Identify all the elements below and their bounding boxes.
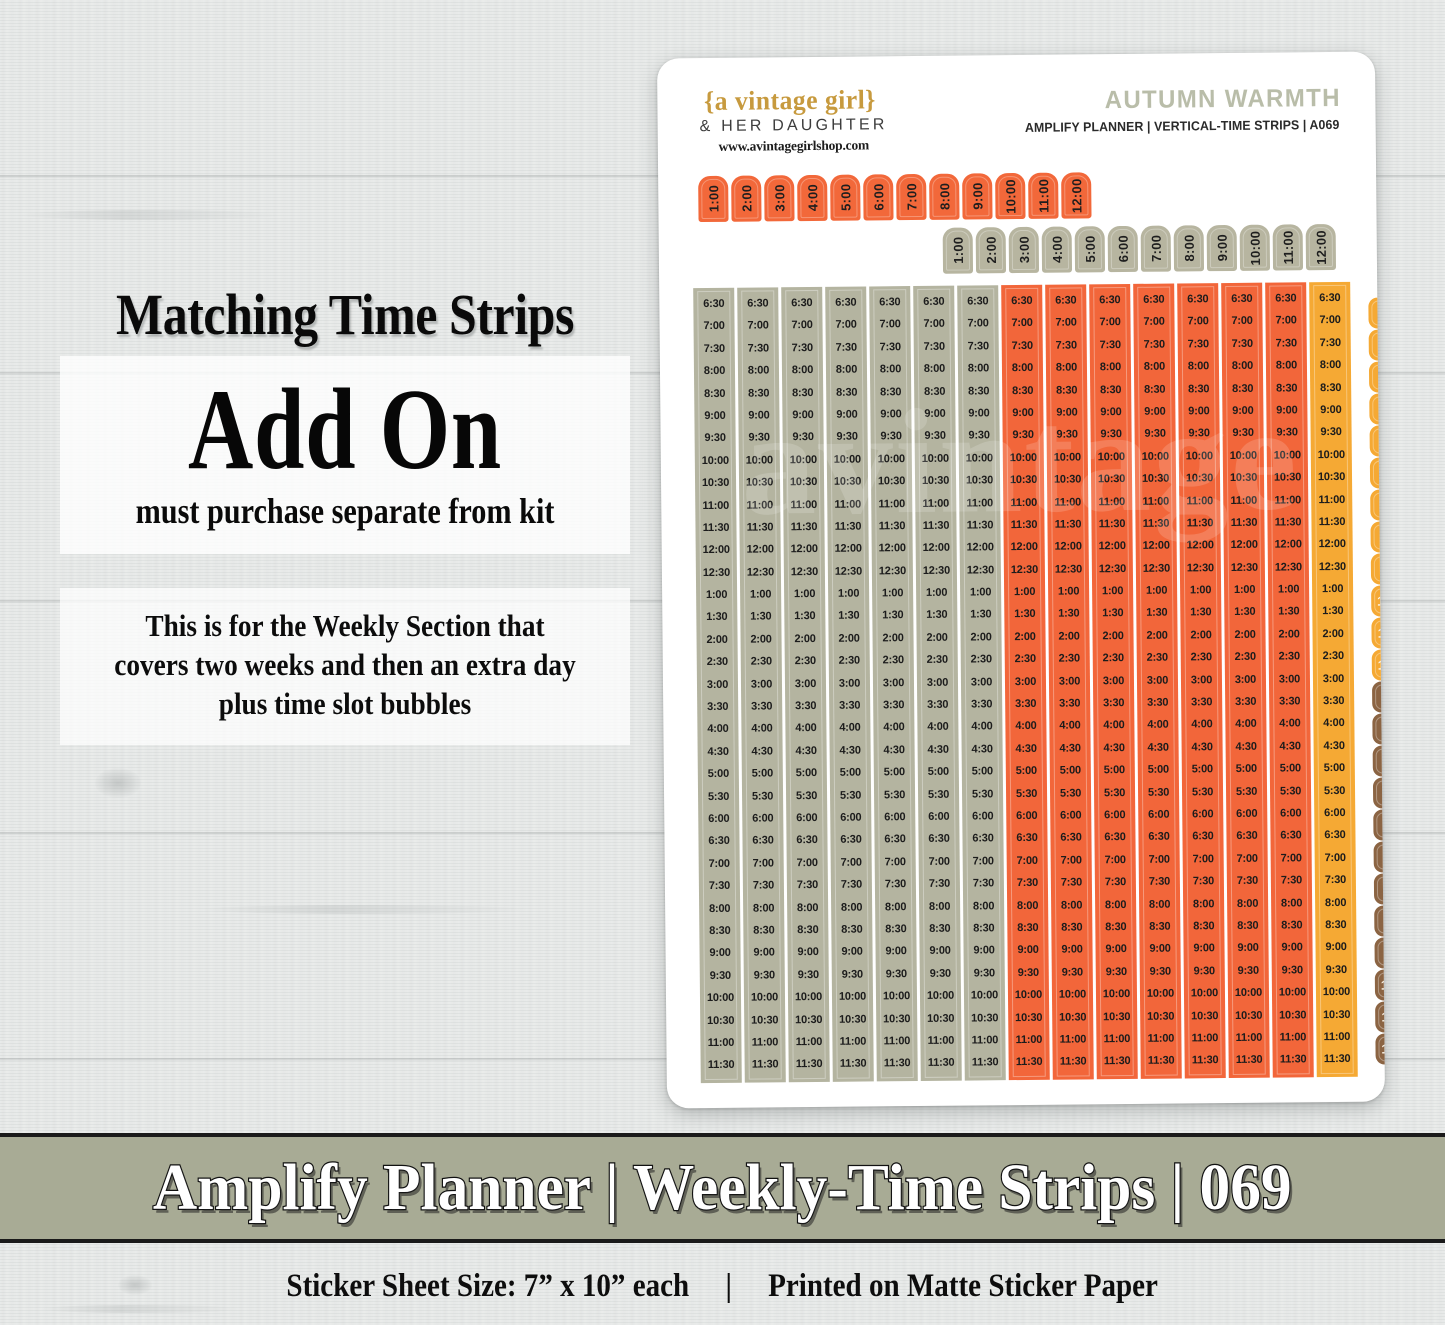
time-strip-cell: 11:30 [1192, 1049, 1219, 1072]
time-strip-cell: 9:30 [710, 965, 731, 988]
time-strip-cell: 10:00 [1186, 445, 1213, 468]
time-tab[interactable]: 7:00 [896, 174, 926, 220]
time-strip-cell: 4:00 [751, 718, 772, 741]
time-strip-cell: 3:30 [751, 695, 772, 718]
time-tab[interactable]: 12:00 [1061, 172, 1091, 218]
time-strip-cell: 6:30 [1148, 826, 1169, 849]
time-strip-column[interactable]: 6:307:007:308:008:309:009:3010:0010:3011… [1133, 284, 1182, 1079]
time-strip-cell: 11:00 [1230, 489, 1257, 512]
time-strip-cell: 4:30 [1015, 738, 1036, 761]
time-strip-cell: 11:00 [1104, 1028, 1131, 1051]
time-strip-cell: 9:00 [885, 940, 906, 963]
time-strip-cell: 9:00 [1056, 401, 1077, 424]
time-strip-cell: 10:00 [1274, 444, 1301, 467]
time-strip-cell: 5:30 [1104, 782, 1125, 805]
time-strip-cell: 11:30 [1231, 512, 1258, 535]
time-strip-cell: 10:00 [795, 986, 822, 1009]
time-strip-cell: 5:30 [1324, 779, 1345, 802]
time-strip-cell: 6:30 [1011, 290, 1032, 313]
time-strip-cell: 6:30 [708, 830, 729, 853]
time-tab[interactable]: 9:00 [962, 173, 992, 219]
time-strip-cell: 6:00 [840, 807, 861, 830]
time-strip-cell: 12:00 [1186, 534, 1213, 557]
time-strip-cell: 10:30 [1142, 468, 1169, 491]
time-strip-cell: 6:30 [1187, 288, 1208, 311]
time-strip-cell: 8:30 [1188, 378, 1209, 401]
time-strip-cell: 9:30 [1150, 960, 1171, 983]
time-strip-cell: 9:00 [709, 942, 730, 965]
time-strip-cell: 3:00 [839, 672, 860, 695]
time-strip-cell: 2:30 [1015, 648, 1036, 671]
time-strip-cell: 8:30 [1100, 379, 1121, 402]
time-strip-cell: 9:00 [1320, 399, 1341, 422]
time-strip-cell: 2:00 [794, 628, 815, 651]
time-strip-cell: 12:30 [967, 559, 994, 582]
time-tab-label: 11:00 [1036, 179, 1051, 213]
time-strip-cell: 7:30 [1061, 872, 1082, 895]
time-strip-cell: 1:30 [1058, 603, 1079, 626]
time-strip-cell: 8:30 [885, 918, 906, 941]
time-strip-cell: 7:30 [924, 336, 945, 359]
time-strip-cell: 7:00 [1231, 310, 1252, 333]
time-strip-cell: 9:00 [841, 941, 862, 964]
time-strip-cell: 3:30 [1147, 692, 1168, 715]
time-strip-cell: 2:30 [1279, 646, 1300, 669]
time-strip-cell: 9:00 [1012, 402, 1033, 425]
time-strip-cell: 7:30 [1017, 872, 1038, 895]
time-strip-cell: 6:00 [796, 807, 817, 830]
time-tab-label: 10:00 [1247, 230, 1262, 265]
time-strip-cell: 8:00 [880, 358, 901, 381]
time-strip-cell: 7:00 [747, 315, 768, 338]
time-strip-cell: 11:30 [1280, 1049, 1307, 1072]
time-strip-cell: 7:00 [1060, 849, 1081, 872]
time-strip-cell: 3:30 [1279, 690, 1300, 713]
time-strip-column[interactable]: 6:307:007:308:008:309:009:3010:0010:3011… [781, 287, 830, 1082]
time-strip-cell: 1:30 [794, 605, 815, 628]
time-strip-cell: 8:00 [1012, 357, 1033, 380]
time-strip-cell: 11:30 [1236, 1049, 1263, 1072]
time-strip-cell: 10:30 [1279, 1004, 1306, 1027]
time-strip-cell: 8:30 [792, 382, 813, 405]
time-strip-cell: 4:30 [1323, 735, 1344, 758]
time-strip-cell: 9:00 [973, 940, 994, 963]
time-strip-cell: 1:30 [1234, 601, 1255, 624]
time-strip-cell: 9:30 [1238, 959, 1259, 982]
time-strip-cell: 11:00 [1054, 491, 1081, 514]
time-strip-cell: 10:30 [922, 470, 949, 493]
time-strip-column[interactable]: 6:307:007:308:008:309:009:3010:0010:3011… [1177, 283, 1226, 1078]
time-strip-cell: 10:00 [1142, 445, 1169, 468]
time-tab-label: 10:00 [1003, 179, 1018, 214]
time-strip-cell: 6:00 [1192, 803, 1213, 826]
time-strip-cell: 8:30 [753, 919, 774, 942]
time-strip-cell: 7:00 [840, 851, 861, 874]
time-strip-cell: 2:30 [1059, 648, 1080, 671]
time-strip-column[interactable]: 6:307:007:308:008:309:009:3010:0010:3011… [957, 285, 1006, 1080]
time-strip-cell: 11:00 [702, 494, 729, 517]
time-strip-cell: 12:30 [1231, 556, 1258, 579]
time-strip-cell: 12:00 [791, 538, 818, 561]
time-strip-cell: 7:00 [1104, 849, 1125, 872]
time-strip-cell: 4:30 [1103, 737, 1124, 760]
time-strip-cell: 8:00 [929, 895, 950, 918]
time-strip-cell: 10:00 [1279, 981, 1306, 1004]
time-strip-cell: 5:30 [1236, 780, 1257, 803]
time-tab[interactable]: 8:00 [929, 174, 959, 220]
time-strip-cell: 12:00 [1142, 535, 1169, 558]
time-strip-cell: 1:30 [1102, 602, 1123, 625]
time-strip-cell: 10:00 [883, 985, 910, 1008]
time-tab-label: 3:00 [772, 185, 787, 212]
time-tab-label: 12:00 [1069, 178, 1084, 213]
time-strip-cell: 8:30 [1325, 914, 1346, 937]
time-strip-cell: 9:30 [924, 425, 945, 448]
time-tab-label: 7:00 [1148, 235, 1163, 262]
time-strip-cell: 5:30 [840, 784, 861, 807]
time-strip-cell: 8:30 [1056, 379, 1077, 402]
time-strip-cell: 12:30 [747, 561, 774, 584]
panel-headline: Matching Time Strips [100, 286, 590, 344]
time-strip-cell: 9:30 [1100, 423, 1121, 446]
time-strip-cell: 9:00 [880, 403, 901, 426]
time-strip-cell: 10:00 [751, 986, 778, 1009]
time-bubble[interactable]: 9:00 [1374, 937, 1385, 968]
time-strip-cell: 4:30 [1191, 736, 1212, 759]
time-tab[interactable]: 10:00 [995, 173, 1025, 219]
time-strip-cell: 2:30 [839, 650, 860, 673]
product-banner: Amplify Planner | Weekly-Time Strips | 0… [0, 1133, 1445, 1243]
time-strip-cell: 11:30 [1319, 511, 1346, 534]
time-strip-column[interactable]: 6:307:007:308:008:309:009:3010:0010:3011… [913, 286, 962, 1081]
time-tab[interactable]: 1:00 [943, 227, 973, 273]
time-strip-cell: 11:30 [1143, 512, 1170, 535]
time-bubble[interactable]: 10:00 [1375, 969, 1385, 1000]
time-strip-cell: 2:30 [795, 650, 816, 673]
time-strip-cell: 3:00 [1235, 668, 1256, 691]
time-strip-cell: 8:00 [1188, 355, 1209, 378]
time-strip-cell: 8:00 [1017, 894, 1038, 917]
time-strip-cell: 12:30 [791, 561, 818, 584]
time-strip-cell: 10:30 [927, 1007, 954, 1030]
time-strip-cell: 12:30 [1319, 556, 1346, 579]
time-strip-cell: 5:30 [1148, 781, 1169, 804]
time-strip-cell: 7:00 [752, 852, 773, 875]
brand-logo: {a vintage girl} & HER DAUGHTER www.avin… [699, 84, 888, 155]
time-strip-cell: 8:00 [1061, 894, 1082, 917]
sheet-meta: AMPLIFY PLANNER | VERTICAL-TIME STRIPS |… [1025, 117, 1340, 135]
time-strip-cell: 8:30 [968, 380, 989, 403]
time-tab[interactable]: 6:00 [1108, 226, 1138, 272]
time-tab[interactable]: 8:00 [1174, 225, 1204, 271]
time-strip-cell: 10:00 [1323, 981, 1350, 1004]
time-strip-cell: 8:30 [1149, 916, 1170, 939]
time-strip-cell: 6:30 [967, 290, 988, 313]
time-strip-cell: 10:30 [1230, 467, 1257, 490]
time-strip-cell: 10:00 [1098, 446, 1125, 469]
time-tab-label: 2:00 [739, 185, 754, 212]
time-strip-cell: 9:00 [748, 404, 769, 427]
time-strip-columns: 6:307:007:308:008:309:009:3010:0010:3011… [693, 282, 1358, 1083]
time-strip-cell: 10:00 [707, 987, 734, 1010]
time-strip-cell: 7:30 [792, 337, 813, 360]
time-tab-label: 12:00 [1313, 230, 1328, 265]
time-strip-column[interactable]: 6:307:007:308:008:309:009:3010:0010:3011… [693, 288, 742, 1083]
time-strip-cell: 6:30 [1104, 826, 1125, 849]
time-strip-cell: 7:30 [973, 872, 994, 895]
time-strip-cell: 5:00 [796, 762, 817, 785]
time-strip-cell: 5:00 [752, 763, 773, 786]
sticker-sheet-wrapper: {a vintage girl} & HER DAUGHTER www.avin… [657, 52, 1385, 1109]
time-strip-cell: 9:00 [1100, 401, 1121, 424]
time-strip-cell: 11:30 [1324, 1048, 1351, 1071]
time-strip-cell: 9:30 [1188, 423, 1209, 446]
time-strip-cell: 7:00 [884, 851, 905, 874]
time-strip-column[interactable]: 6:307:007:308:008:309:009:3010:0010:3011… [825, 286, 874, 1081]
sheet-header: {a vintage girl} & HER DAUGHTER www.avin… [683, 80, 1352, 160]
time-strip-cell: 9:00 [1144, 401, 1165, 424]
time-strip-cell: 4:00 [1191, 714, 1212, 737]
time-tab[interactable]: 11:00 [1028, 173, 1058, 219]
time-strip-cell: 3:30 [1059, 692, 1080, 715]
time-strip-cell: 6:00 [928, 806, 949, 829]
time-bubble[interactable]: 12:00 [1375, 1033, 1385, 1064]
time-strip-cell: 12:00 [967, 537, 994, 560]
time-strip-cell: 2:00 [1102, 625, 1123, 648]
time-strip-column[interactable]: 6:307:007:308:008:309:009:3010:0010:3011… [1001, 285, 1050, 1080]
time-strip-cell: 8:00 [748, 360, 769, 383]
time-strip-cell: 7:00 [708, 853, 729, 876]
time-strip-cell: 8:30 [1144, 378, 1165, 401]
time-strip-cell: 7:30 [1320, 332, 1341, 355]
time-strip-cell: 10:30 [1191, 1005, 1218, 1028]
time-strip-column[interactable]: 6:307:007:308:008:309:009:3010:0010:3011… [869, 286, 918, 1081]
time-strip-cell: 6:30 [1319, 287, 1340, 310]
time-strip-cell: 1:00 [1102, 580, 1123, 603]
time-strip-cell: 3:30 [927, 694, 948, 717]
time-strip-cell: 11:30 [928, 1052, 955, 1075]
time-strip-cell: 6:00 [1280, 802, 1301, 825]
time-strip-cell: 6:00 [752, 807, 773, 830]
time-strip-cell: 7:00 [1187, 311, 1208, 334]
time-strip-cell: 11:30 [967, 514, 994, 537]
time-strip-cell: 1:00 [794, 583, 815, 606]
time-strip-cell: 7:00 [1016, 850, 1037, 873]
sticker-sheet: {a vintage girl} & HER DAUGHTER www.avin… [657, 52, 1385, 1109]
time-tab-label: 7:00 [904, 183, 919, 210]
footer-text: Sticker Sheet Size: 7” x 10” each | Prin… [287, 1268, 1159, 1305]
time-strip-cell: 11:00 [1318, 488, 1345, 511]
time-strip-cell: 4:30 [707, 741, 728, 764]
time-strip-cell: 5:00 [1016, 760, 1037, 783]
time-strip-cell: 8:30 [973, 917, 994, 940]
time-strip-cell: 9:30 [842, 963, 863, 986]
time-strip-cell: 4:00 [795, 717, 816, 740]
time-strip-cell: 11:30 [972, 1052, 999, 1075]
time-strip-cell: 10:30 [795, 1008, 822, 1031]
time-strip-cell: 1:00 [926, 582, 947, 605]
time-strip-cell: 4:00 [839, 717, 860, 740]
time-strip-cell: 8:00 [1320, 354, 1341, 377]
time-strip-cell: 7:00 [1143, 311, 1164, 334]
time-strip-cell: 1:30 [926, 604, 947, 627]
time-strip-cell: 4:30 [1059, 737, 1080, 760]
time-strip-cell: 11:30 [1016, 1051, 1043, 1074]
time-tab[interactable]: 4:00 [797, 175, 827, 221]
time-strip-cell: 9:00 [929, 940, 950, 963]
time-strip-cell: 11:00 [1016, 1029, 1043, 1052]
time-strip-cell: 6:00 [1104, 804, 1125, 827]
time-strip-column[interactable]: 6:307:007:308:008:309:009:3010:0010:3011… [1265, 282, 1314, 1077]
time-strip-cell: 6:30 [1192, 826, 1213, 849]
time-strip-cell: 3:30 [971, 693, 992, 716]
time-strip-cell: 8:30 [1237, 915, 1258, 938]
time-strip-cell: 8:00 [1281, 892, 1302, 915]
time-strip-cell: 11:00 [878, 493, 905, 516]
time-strip-cell: 9:00 [1325, 936, 1346, 959]
time-tab[interactable]: 4:00 [1042, 226, 1072, 272]
time-strip-cell: 8:30 [1105, 916, 1126, 939]
time-strip-cell: 12:30 [1143, 557, 1170, 580]
time-strip-cell: 7:00 [972, 850, 993, 873]
time-tab[interactable]: 5:00 [830, 175, 860, 221]
time-strip-cell: 6:30 [1143, 289, 1164, 312]
time-strip-cell: 10:30 [883, 1008, 910, 1031]
time-strip-cell: 9:30 [1056, 424, 1077, 447]
time-strip-cell: 8:00 [836, 359, 857, 382]
time-strip-cell: 10:30 [746, 472, 773, 495]
time-strip-cell: 12:00 [1318, 533, 1345, 556]
time-tab[interactable]: 11:00 [1273, 224, 1303, 270]
time-strip-cell: 4:30 [751, 740, 772, 763]
time-strip-cell: 7:00 [967, 313, 988, 336]
time-strip-cell: 1:30 [838, 605, 859, 628]
time-strip-cell: 11:00 [1098, 491, 1125, 514]
time-strip-cell: 11:00 [884, 1030, 911, 1053]
time-bubble-label: 12:00 [1381, 1041, 1385, 1056]
time-strip-cell: 12:00 [747, 539, 774, 562]
time-strip-cell: 7:30 [1281, 869, 1302, 892]
time-strip-cell: 11:00 [708, 1032, 735, 1055]
time-strip-cell: 11:00 [1142, 490, 1169, 513]
time-tab-label: 9:00 [1214, 234, 1229, 261]
time-strip-cell: 4:00 [883, 717, 904, 740]
time-strip-cell: 8:00 [1056, 357, 1077, 380]
time-strip-column[interactable]: 6:307:007:308:008:309:009:3010:0010:3011… [1089, 284, 1138, 1079]
time-strip-cell: 10:00 [922, 447, 949, 470]
time-strip-cell: 3:00 [1323, 668, 1344, 691]
time-strip-column[interactable]: 6:307:007:308:008:309:009:3010:0010:3011… [1309, 282, 1358, 1077]
time-strip-cell: 3:00 [1191, 669, 1212, 692]
time-tab[interactable]: 3:00 [1009, 227, 1039, 273]
time-strip-cell: 12:00 [835, 538, 862, 561]
time-tab[interactable]: 9:00 [1207, 225, 1237, 271]
time-tab[interactable]: 12:00 [1306, 224, 1336, 270]
time-strip-cell: 11:00 [1060, 1028, 1087, 1051]
time-tab[interactable]: 6:00 [863, 174, 893, 220]
time-strip-cell: 4:30 [1235, 736, 1256, 759]
time-strip-cell: 5:00 [1148, 759, 1169, 782]
time-strip-column[interactable]: 6:307:007:308:008:309:009:3010:0010:3011… [1045, 284, 1094, 1079]
time-strip-cell: 10:00 [1191, 982, 1218, 1005]
time-strip-cell: 1:30 [1014, 603, 1035, 626]
time-strip-cell: 1:30 [1146, 602, 1167, 625]
time-strip-cell: 9:30 [968, 425, 989, 448]
time-tab-label: 9:00 [970, 183, 985, 210]
time-strip-cell: 1:00 [1234, 579, 1255, 602]
time-strip-cell: 4:30 [971, 738, 992, 761]
tab-row-orange: 1:002:003:004:005:006:007:008:009:0010:0… [698, 170, 1352, 222]
time-tab-label: 3:00 [1016, 236, 1031, 263]
time-strip-cell: 7:30 [885, 873, 906, 896]
time-strip-cell: 10:00 [878, 448, 905, 471]
time-bubble[interactable]: 11:00 [1375, 1001, 1385, 1032]
time-strip-cell: 11:30 [791, 516, 818, 539]
time-strip-cell: 7:30 [1105, 871, 1126, 894]
time-strip-cell: 2:30 [1235, 646, 1256, 669]
time-strip-cell: 7:30 [1325, 869, 1346, 892]
time-tab[interactable]: 10:00 [1240, 225, 1270, 271]
time-strip-cell: 3:00 [1103, 670, 1124, 693]
time-strip-cell: 12:00 [1011, 536, 1038, 559]
time-strip-column[interactable]: 6:307:007:308:008:309:009:3010:0010:3011… [737, 287, 786, 1082]
time-strip-cell: 2:00 [1322, 623, 1343, 646]
time-strip-cell: 5:00 [884, 761, 905, 784]
time-strip-cell: 12:30 [703, 561, 730, 584]
time-tab[interactable]: 1:00 [698, 176, 728, 222]
time-strip-cell: 12:00 [923, 537, 950, 560]
time-tab[interactable]: 2:00 [976, 227, 1006, 273]
time-tab[interactable]: 3:00 [764, 175, 794, 221]
time-tab[interactable]: 5:00 [1075, 226, 1105, 272]
time-strip-cell: 12:30 [879, 560, 906, 583]
time-strip-cell: 6:30 [703, 293, 724, 316]
time-tab[interactable]: 2:00 [731, 175, 761, 221]
time-strip-cell: 7:00 [1280, 847, 1301, 870]
time-strip-cell: 3:30 [839, 695, 860, 718]
time-strip-cell: 11:00 [746, 494, 773, 517]
time-strip-cell: 10:30 [751, 1009, 778, 1032]
time-strip-cell: 11:30 [703, 517, 730, 540]
time-strip-cell: 4:30 [883, 739, 904, 762]
time-strip-cell: 5:00 [972, 760, 993, 783]
time-strip-cell: 9:30 [1326, 959, 1347, 982]
time-strip-cell: 10:30 [1147, 1005, 1174, 1028]
time-strip-cell: 8:30 [797, 919, 818, 942]
time-tab[interactable]: 7:00 [1141, 226, 1171, 272]
time-strip-cell: 3:00 [1279, 668, 1300, 691]
time-strip-cell: 2:00 [838, 627, 859, 650]
time-strip-cell: 3:00 [1059, 670, 1080, 693]
time-strip-column[interactable]: 6:307:007:308:008:309:009:3010:0010:3011… [1221, 283, 1270, 1078]
time-strip-cell: 7:30 [1193, 870, 1214, 893]
time-strip-cell: 7:00 [1148, 848, 1169, 871]
time-strip-cell: 10:30 [971, 1007, 998, 1030]
time-strip-cell: 9:00 [1281, 937, 1302, 960]
time-strip-cell: 2:00 [926, 627, 947, 650]
time-strip-cell: 4:30 [1147, 736, 1168, 759]
time-strip-cell: 5:30 [972, 783, 993, 806]
time-tab-label: 5:00 [1082, 236, 1097, 263]
time-strip-cell: 8:00 [753, 897, 774, 920]
time-strip-cell: 1:00 [970, 581, 991, 604]
time-strip-cell: 8:00 [885, 896, 906, 919]
time-strip-cell: 11:30 [884, 1052, 911, 1075]
time-strip-cell: 4:30 [795, 740, 816, 763]
time-strip-cell: 10:00 [1318, 444, 1345, 467]
time-strip-cell: 10:30 [1186, 467, 1213, 490]
time-strip-cell: 9:00 [1232, 400, 1253, 423]
